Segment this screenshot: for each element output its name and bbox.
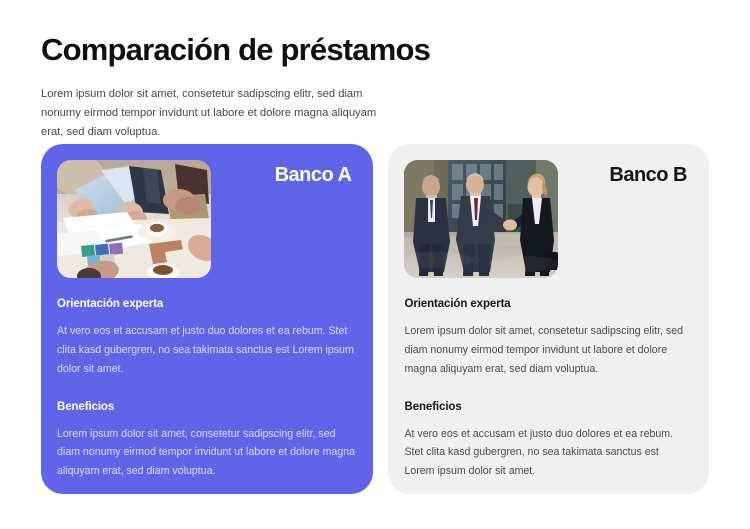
card-a-section-title-2: Beneficios (57, 401, 355, 413)
card-b-bank-name: Banco B (609, 160, 691, 187)
photo-a-graphic (57, 160, 211, 278)
comparison-page: Comparación de préstamos Lorem ipsum dol… (0, 0, 750, 529)
card-a-bank-name: Banco A (275, 160, 356, 187)
card-b-section-title-1: Orientación experta (404, 298, 691, 310)
business-meeting-documents-photo (57, 160, 211, 278)
card-a-top: Banco A (57, 160, 355, 278)
card-b-section-body-2: At vero eos et accusam et justo duo dolo… (404, 425, 691, 482)
card-b-section-beneficios: Beneficios At vero eos et accusam et jus… (404, 401, 691, 482)
comparison-cards: Banco A Orientación experta At vero eos … (41, 144, 709, 494)
card-a-section-beneficios: Beneficios Lorem ipsum dolor sit amet, c… (57, 401, 355, 482)
businesspeople-handshake-photo (404, 160, 558, 278)
card-a-section-body-2: Lorem ipsum dolor sit amet, consetetur s… (57, 425, 355, 482)
photo-b-graphic (404, 160, 558, 278)
page-header: Comparación de préstamos Lorem ipsum dol… (0, 0, 750, 142)
card-b-section-body-1: Lorem ipsum dolor sit amet, consetetur s… (404, 322, 691, 379)
card-banco-b[interactable]: Banco B Orientación experta Lorem ipsum … (388, 144, 709, 494)
card-a-section-title-1: Orientación experta (57, 298, 355, 310)
page-title: Comparación de préstamos (41, 32, 709, 68)
card-a-section-body-1: At vero eos et accusam et justo duo dolo… (57, 322, 355, 379)
card-b-top: Banco B (404, 160, 691, 278)
card-b-section-title-2: Beneficios (404, 401, 691, 413)
card-banco-a[interactable]: Banco A Orientación experta At vero eos … (41, 144, 373, 494)
card-b-section-orientacion: Orientación experta Lorem ipsum dolor si… (404, 298, 691, 379)
page-subtitle: Lorem ipsum dolor sit amet, consetetur s… (41, 85, 386, 143)
card-a-section-orientacion: Orientación experta At vero eos et accus… (57, 298, 355, 379)
